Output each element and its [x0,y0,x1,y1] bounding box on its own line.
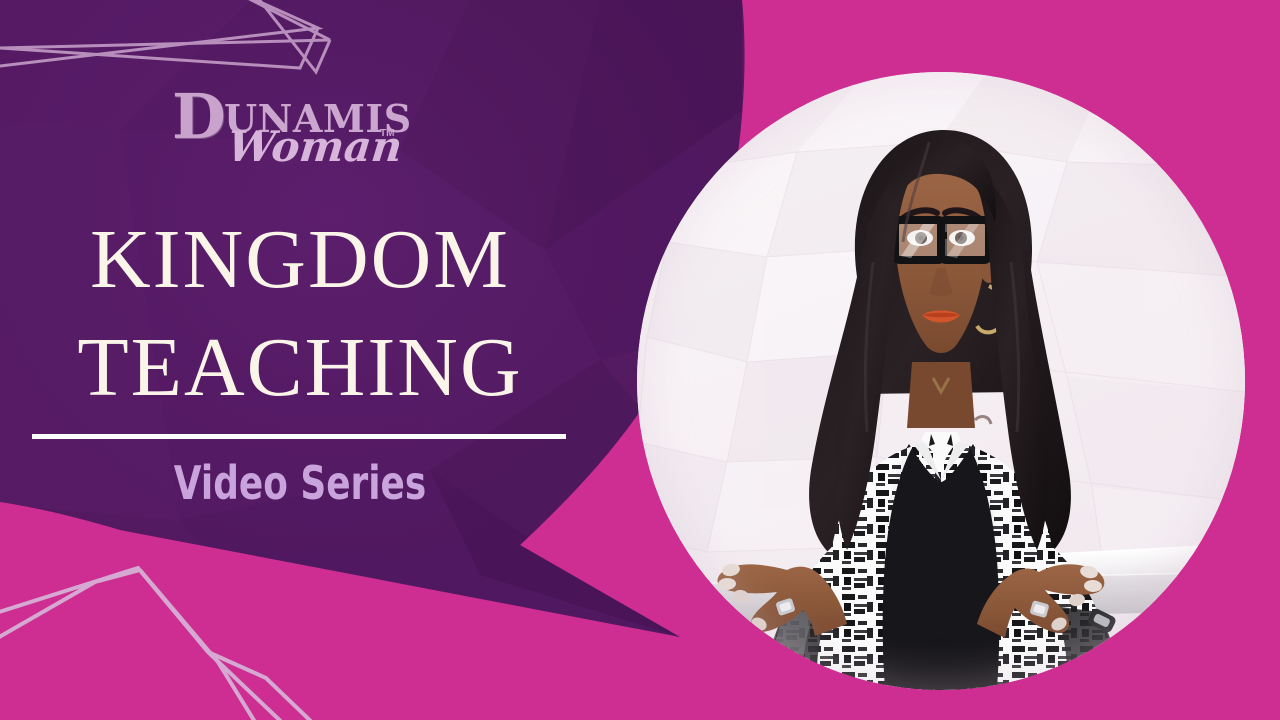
decorative-lines-bottom-left [0,540,410,720]
speaker-figure [637,72,1245,690]
brand-logo: D UNAMIS Woman TM [172,84,412,176]
page-title: KINGDOM TEACHING [0,206,600,422]
logo-ornate-d: D [172,86,224,148]
speaker-photo [637,72,1245,690]
title-divider [32,434,566,439]
title-line-1: KINGDOM [90,213,510,306]
subtitle: Video Series [66,456,534,510]
speaker-photo-inner [637,72,1245,690]
design-canvas: D UNAMIS Woman TM KINGDOM TEACHING Video… [0,0,1280,720]
logo-script-word: Woman [226,126,404,168]
title-line-2: TEACHING [0,314,600,422]
trademark-symbol: TM [380,128,394,139]
